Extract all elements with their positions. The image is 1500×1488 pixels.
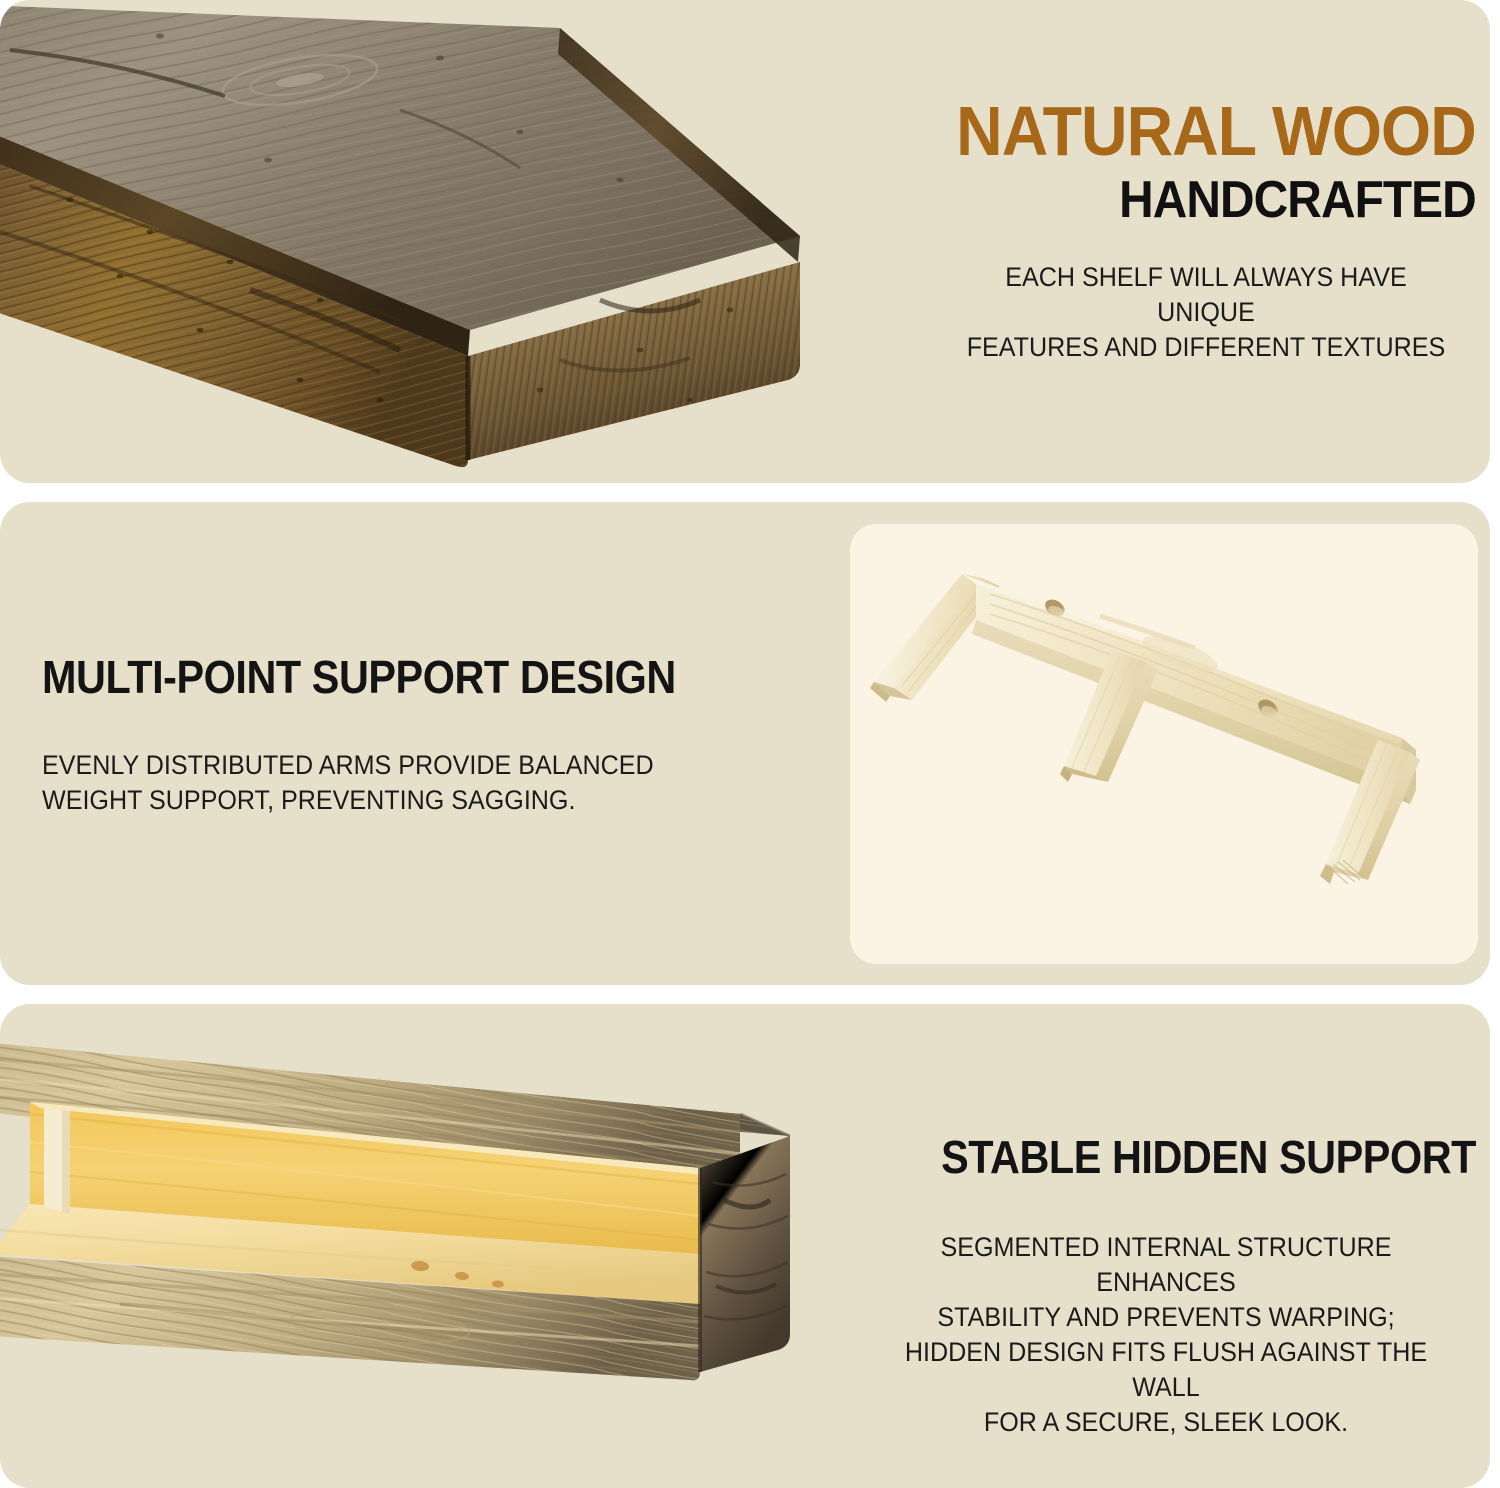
panel-multi-point-support: MULTI-POINT SUPPORT DESIGN EVENLY DISTRI… [0, 502, 1490, 985]
panel-1-text-block: NATURAL WOOD HANDCRAFTED EACH SHELF WILL… [911, 96, 1476, 365]
panel-1-description-line-2: FEATURES AND DIFFERENT TEXTURES [955, 330, 1457, 365]
panel-2-description-line-1: EVENLY DISTRIBUTED ARMS PROVIDE BALANCED [42, 748, 674, 783]
panel-1-description-line-1: EACH SHELF WILL ALWAYS HAVE UNIQUE [955, 260, 1457, 330]
heading-natural-wood: NATURAL WOOD [956, 96, 1476, 166]
panel-1-description: EACH SHELF WILL ALWAYS HAVE UNIQUE FEATU… [955, 260, 1457, 365]
panel-2-description: EVENLY DISTRIBUTED ARMS PROVIDE BALANCED… [42, 748, 674, 818]
product-infographic: NATURAL WOOD HANDCRAFTED EACH SHELF WILL… [0, 0, 1500, 1488]
panel-3-description-line-2: STABILITY AND PREVENTS WARPING; [878, 1300, 1455, 1335]
hollow-shelf-interior-photo [0, 1004, 880, 1488]
rustic-wood-beam-shelf-photo [0, 0, 880, 483]
heading-handcrafted: HANDCRAFTED [956, 174, 1476, 226]
panel-3-description-line-4: FOR A SECURE, SLEEK LOOK. [878, 1405, 1455, 1440]
panel-3-description-line-3: HIDDEN DESIGN FITS FLUSH AGAINST THE WAL… [878, 1335, 1455, 1405]
panel-2-text-block: MULTI-POINT SUPPORT DESIGN EVENLY DISTRI… [42, 654, 746, 818]
panel-3-text-block: STABLE HIDDEN SUPPORT SEGMENTED INTERNAL… [856, 1134, 1476, 1441]
panel-3-description-line-1: SEGMENTED INTERNAL STRUCTURE ENHANCES [878, 1230, 1455, 1300]
panel-natural-wood: NATURAL WOOD HANDCRAFTED EACH SHELF WILL… [0, 0, 1490, 483]
heading-stable-hidden-support: STABLE HIDDEN SUPPORT [918, 1134, 1476, 1180]
panel-stable-hidden-support: STABLE HIDDEN SUPPORT SEGMENTED INTERNAL… [0, 1004, 1490, 1488]
heading-multi-point-support-design: MULTI-POINT SUPPORT DESIGN [42, 654, 676, 700]
panel-3-description: SEGMENTED INTERNAL STRUCTURE ENHANCES ST… [878, 1230, 1455, 1441]
panel-2-description-line-2: WEIGHT SUPPORT, PREVENTING SAGGING. [42, 783, 674, 818]
wooden-wall-mount-bracket-photo [850, 524, 1478, 964]
